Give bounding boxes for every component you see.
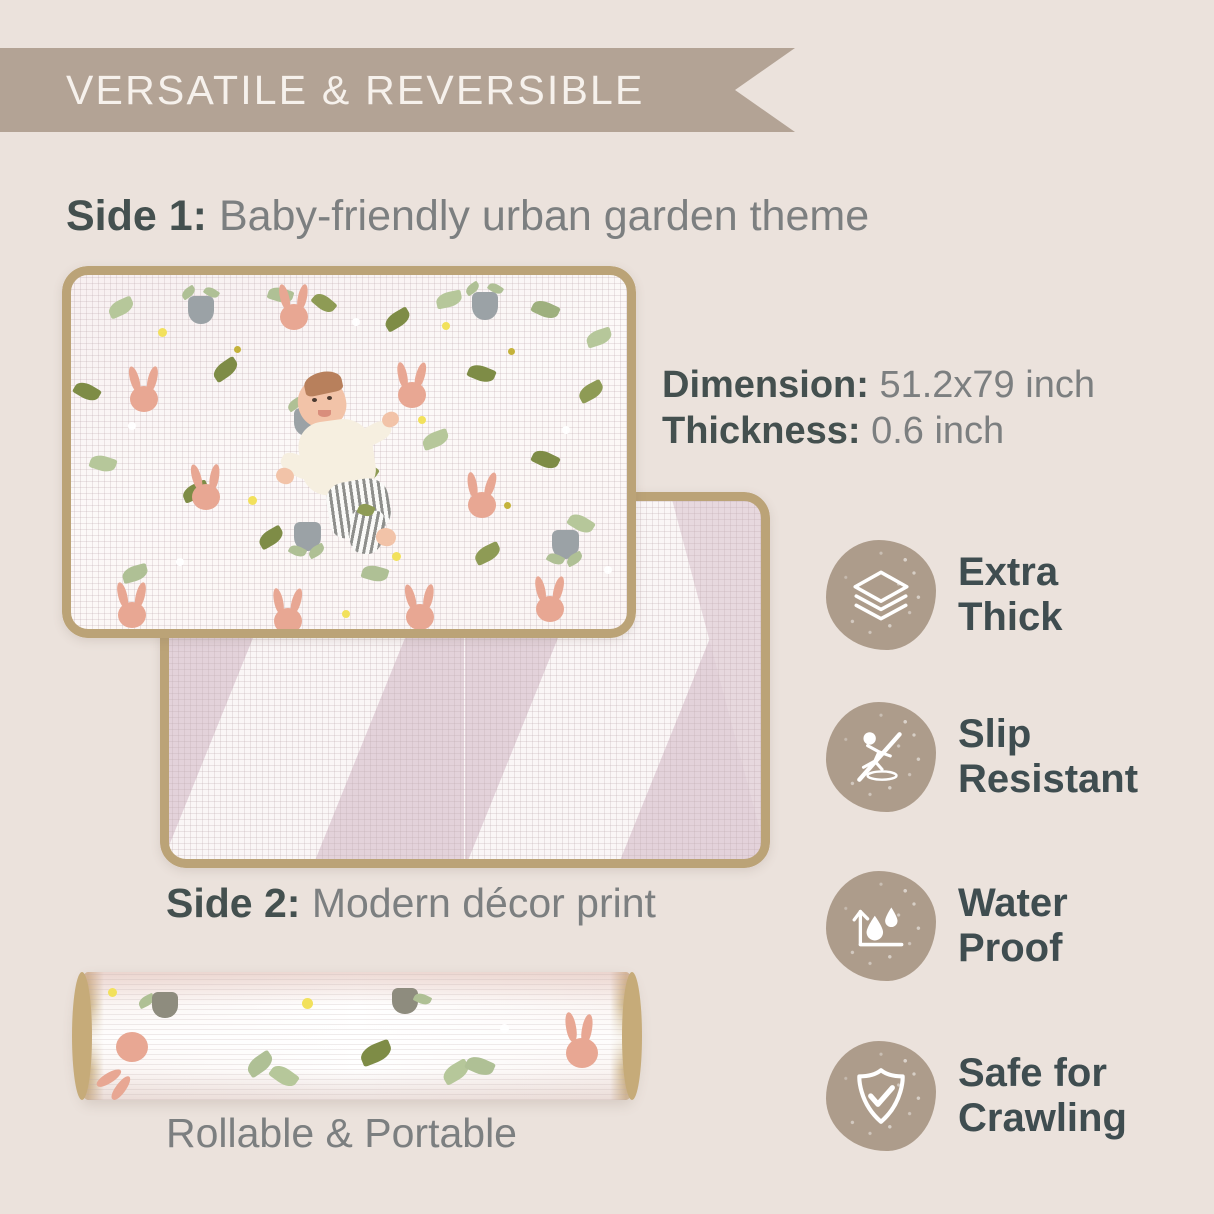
feature-extra-thick: ExtraThick [826,535,1214,655]
side1-caption: Side 1: Baby-friendly urban garden theme [66,192,869,241]
tulip-motif [184,292,218,332]
roll-caption-text: Rollable & Portable [166,1110,517,1156]
feature-label-3: Safe forCrawling [958,1051,1127,1141]
dimension-label: Dimension: [662,364,879,406]
water-drop-icon [826,871,936,981]
feature-label-1: SlipResistant [958,712,1138,802]
thickness-row: Thickness: 0.6 inch [662,408,1095,454]
feature-slip-resistant: SlipResistant [826,697,1214,817]
shield-check-icon [826,1041,936,1151]
roll-cap-right [622,972,642,1100]
layers-icon [826,540,936,650]
roll-tube [74,972,640,1100]
feature-label-2: WaterProof [958,881,1068,971]
baby-on-mat [274,368,414,558]
dimension-value: 51.2x79 inch [879,364,1095,406]
side2-description: Modern décor print [312,880,656,926]
dimension-row: Dimension: 51.2x79 inch [662,362,1095,408]
banner-title: VERSATILE & REVERSIBLE [66,67,645,114]
side2-caption: Side 2: Modern décor print [166,880,656,927]
no-slip-icon [826,702,936,812]
spec-block: Dimension: 51.2x79 inch Thickness: 0.6 i… [662,362,1095,455]
feature-water-proof: WaterProof [826,866,1214,986]
side1-label: Side 1: [66,192,219,240]
thickness-label: Thickness: [662,410,871,452]
side2-label: Side 2: [166,880,312,926]
rolled-mat-image [74,972,640,1100]
side1-description: Baby-friendly urban garden theme [219,192,869,240]
feature-label-0: ExtraThick [958,550,1062,640]
thickness-value: 0.6 inch [871,410,1004,452]
infographic-canvas: VERSATILE & REVERSIBLE Side 1: Baby-frie… [0,0,1214,1214]
roll-caption: Rollable & Portable [166,1110,517,1157]
feature-safe-for-crawling: Safe forCrawling [826,1036,1214,1156]
roll-cap-left [72,972,92,1100]
banner-ribbon: VERSATILE & REVERSIBLE [0,48,795,132]
